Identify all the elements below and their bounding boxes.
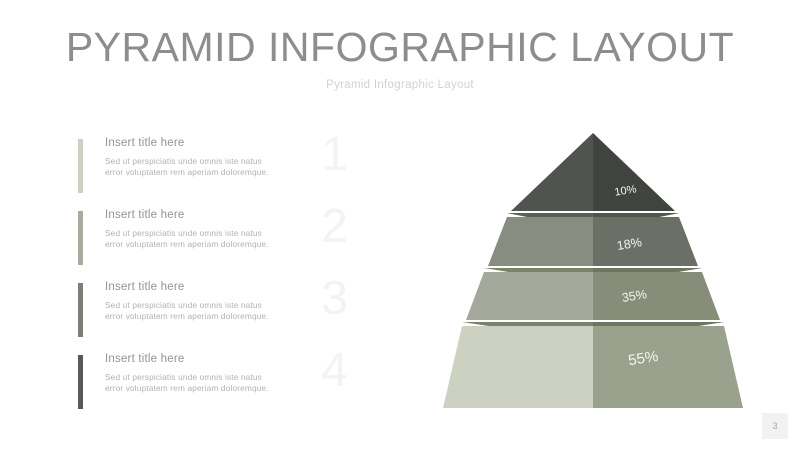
item-description-1: Sed ut perspiciatis unde omnis iste natu… (105, 156, 310, 177)
pyramid-svg: 55% 35% 18% 10% (430, 120, 760, 420)
tier-1-right-face (593, 133, 675, 211)
page-title: PYRAMID INFOGRAPHIC LAYOUT (0, 24, 800, 70)
pyramid-tier-4[interactable]: 55% (443, 322, 743, 408)
item-title-2: Insert title here (105, 208, 340, 222)
item-description-line-1: Sed ut perspiciatis unde omnis iste natu… (105, 300, 262, 310)
page-subtitle: Pyramid Infographic Layout (0, 79, 800, 91)
item-index-1: 1 (321, 126, 348, 184)
pyramid-tier-3[interactable]: 35% (466, 268, 720, 320)
item-title-3: Insert title here (105, 280, 340, 294)
slide-canvas: PYRAMID INFOGRAPHIC LAYOUT Pyramid Infog… (0, 0, 800, 450)
list-item[interactable]: 2 Insert title here Sed ut perspiciatis … (78, 208, 340, 265)
item-description-line-1: Sed ut perspiciatis unde omnis iste natu… (105, 156, 262, 166)
item-description-3: Sed ut perspiciatis unde omnis iste natu… (105, 300, 310, 321)
slide-header: PYRAMID INFOGRAPHIC LAYOUT Pyramid Infog… (0, 24, 800, 91)
item-index-4: 4 (321, 342, 348, 400)
item-accent-bar-4 (78, 355, 83, 409)
tier-1-left-face (511, 133, 593, 211)
item-description-line-2: error voluptatem rem aperiam doloremque. (105, 311, 269, 321)
item-accent-bar-2 (78, 211, 83, 265)
item-description-4: Sed ut perspiciatis unde omnis iste natu… (105, 372, 310, 393)
list-item[interactable]: 1 Insert title here Sed ut perspiciatis … (78, 136, 340, 193)
page-number-badge: 3 (762, 413, 788, 439)
item-description-line-2: error voluptatem rem aperiam doloremque. (105, 239, 269, 249)
tier-2-left-face (488, 217, 593, 266)
item-index-3: 3 (321, 270, 348, 328)
legend-item-list: 1 Insert title here Sed ut perspiciatis … (78, 136, 340, 424)
item-description-line-2: error voluptatem rem aperiam doloremque. (105, 167, 269, 177)
item-description-2: Sed ut perspiciatis unde omnis iste natu… (105, 228, 310, 249)
item-description-line-1: Sed ut perspiciatis unde omnis iste natu… (105, 372, 262, 382)
item-index-2: 2 (321, 198, 348, 256)
list-item[interactable]: 4 Insert title here Sed ut perspiciatis … (78, 352, 340, 409)
item-description-line-1: Sed ut perspiciatis unde omnis iste natu… (105, 228, 262, 238)
item-description-line-2: error voluptatem rem aperiam doloremque. (105, 383, 269, 393)
item-title-4: Insert title here (105, 352, 340, 366)
pyramid-chart: 55% 35% 18% 10% (430, 120, 760, 420)
list-item[interactable]: 3 Insert title here Sed ut perspiciatis … (78, 280, 340, 337)
item-title-1: Insert title here (105, 136, 340, 150)
tier-4-left-face (443, 326, 593, 408)
pyramid-tier-1[interactable]: 10% (511, 133, 675, 211)
item-accent-bar-1 (78, 139, 83, 193)
tier-4-right-face (593, 326, 743, 408)
pyramid-tier-2[interactable]: 18% (488, 213, 698, 266)
tier-3-left-face (466, 272, 593, 320)
tier-3-right-face (593, 272, 720, 320)
item-accent-bar-3 (78, 283, 83, 337)
tier-2-right-face (593, 217, 698, 266)
